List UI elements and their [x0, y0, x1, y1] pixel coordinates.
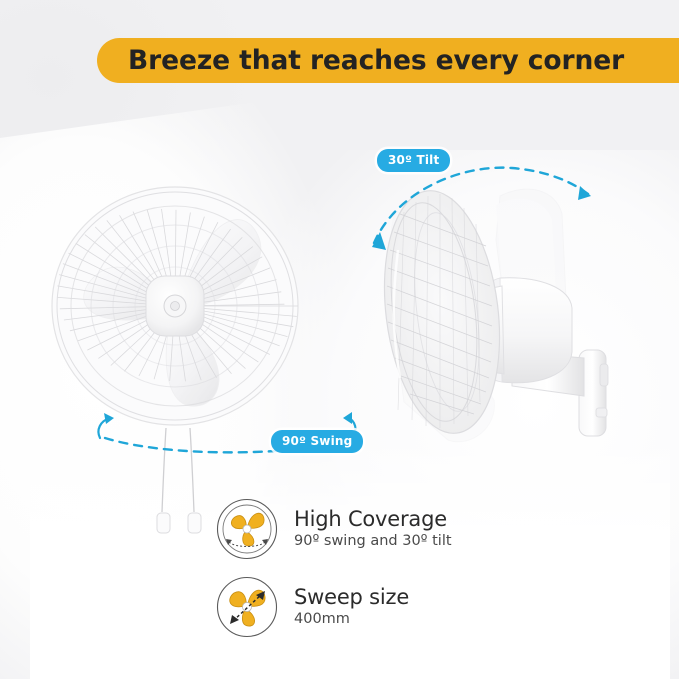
fan-sweep-icon	[216, 576, 278, 638]
feature-subtitle: 400mm	[294, 611, 409, 628]
wall-fan-side-view	[372, 184, 608, 442]
wall-fan-front-view	[52, 187, 298, 425]
fan-grille-side	[372, 184, 513, 440]
tilt-arc-annotation	[372, 168, 591, 250]
motor-housing	[500, 278, 572, 383]
feature-sweep-size: Sweep size 400mm	[216, 576, 409, 638]
tilt-ghost-down	[400, 337, 494, 442]
fan-rotation-icon	[216, 498, 278, 560]
tilt-ghost-left	[391, 210, 420, 292]
feature-high-coverage: High Coverage 90º swing and 30º tilt	[216, 498, 452, 560]
pull-cords	[162, 428, 194, 512]
wall-mount-plate	[579, 350, 606, 436]
feature-title: High Coverage	[294, 508, 452, 532]
pull-cord-toggle-right	[188, 513, 201, 533]
fan-neck	[452, 286, 504, 374]
feature-title: Sweep size	[294, 586, 409, 610]
feature-subtitle: 90º swing and 30º tilt	[294, 533, 452, 550]
infographic-canvas: Breeze that reaches every corner 30º Til…	[0, 0, 679, 679]
banner-title: Breeze that reaches every corner	[128, 45, 624, 76]
badge-tilt: 30º Tilt	[377, 149, 450, 172]
bracket-arm	[512, 352, 584, 396]
header-banner: Breeze that reaches every corner	[97, 38, 679, 83]
badge-swing: 90º Swing	[271, 430, 363, 453]
pull-cord-toggle-left	[157, 513, 170, 533]
tilt-ghost-up	[496, 189, 566, 323]
